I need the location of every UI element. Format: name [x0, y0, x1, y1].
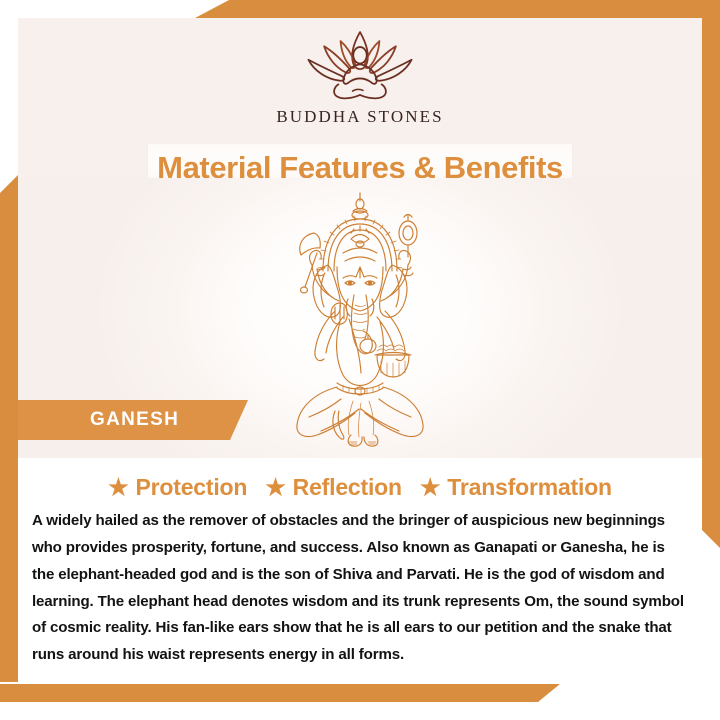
keyword-row: ★ Protection ★ Reflection ★ Transformati… — [32, 474, 688, 501]
poster-root: BUDDHA STONES Material Features & Benefi… — [0, 0, 720, 720]
star-icon: ★ — [265, 476, 285, 499]
brand-logo: BUDDHA STONES — [18, 26, 702, 127]
keyword-protection: ★ Protection — [108, 474, 247, 501]
frame-band-bottom — [0, 684, 560, 702]
star-icon: ★ — [108, 476, 128, 499]
illustration-section: GANESH — [18, 178, 702, 458]
frame-band-right — [702, 18, 720, 548]
ganesh-line-art-illustration — [265, 187, 455, 449]
brand-name: BUDDHA STONES — [276, 107, 443, 127]
ganesh-tag-label: GANESH — [90, 409, 179, 431]
lotus-meditation-icon — [289, 26, 431, 104]
keyword-reflection: ★ Reflection — [265, 474, 402, 501]
keyword-reflection-label: Reflection — [293, 474, 402, 501]
star-icon: ★ — [420, 476, 440, 499]
description-panel: ★ Protection ★ Reflection ★ Transformati… — [18, 458, 702, 684]
ganesh-tag-banner: GANESH — [18, 400, 248, 440]
description-text: A widely hailed as the remover of obstac… — [32, 508, 688, 669]
keyword-transformation-label: Transformation — [447, 474, 612, 501]
frame-band-top — [195, 0, 720, 18]
page-body: BUDDHA STONES Material Features & Benefi… — [18, 18, 702, 684]
frame-band-left — [0, 175, 18, 682]
header-section: BUDDHA STONES Material Features & Benefi… — [18, 18, 702, 178]
keyword-protection-label: Protection — [136, 474, 248, 501]
keyword-transformation: ★ Transformation — [420, 474, 612, 501]
